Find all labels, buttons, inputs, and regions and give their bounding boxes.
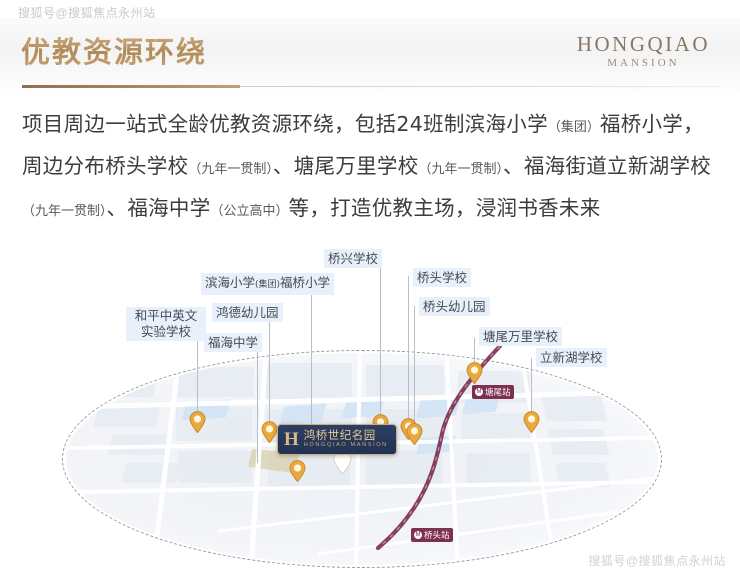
map-label-heping: 和平中英文 实验学校 [126, 307, 206, 341]
project-name-en: HONGQIAO MANSION [304, 441, 388, 450]
leader-line-binhai [311, 286, 312, 426]
desc-seg-5: 、福海中学 [107, 196, 211, 220]
map-label-qiaotou-school: 桥头学校 [413, 268, 471, 287]
leader-line-hongde [269, 313, 270, 423]
location-map: 和平中英文 实验学校 滨海小学(集团)福桥小学 鸿德幼儿园 福海中学 桥兴学校 … [0, 228, 740, 579]
project-nameplate[interactable]: H 鸿桥世纪名园 HONGQIAO MANSION [277, 424, 397, 455]
desc-note-gaozhong: （公立高中） [211, 204, 289, 219]
map-label-tangwei: 塘尾万里学校 [479, 327, 562, 346]
station-qiaotou[interactable]: M 桥头站 [411, 528, 453, 542]
brand-logo: HONGQIAO MANSION [577, 33, 710, 69]
station-tangwei[interactable]: M 塘尾站 [472, 385, 514, 399]
bottom-watermark: 搜狐号@搜狐焦点永州站 [588, 552, 726, 569]
project-monogram: H [284, 430, 299, 449]
map-label-qiaoxing: 桥兴学校 [324, 249, 382, 268]
map-label-qiaotou-kinder: 桥头幼儿园 [419, 297, 490, 316]
leader-line-heping [197, 338, 198, 413]
map-pin-fuhai[interactable] [289, 460, 306, 482]
map-pin-tangwei[interactable] [466, 362, 483, 384]
leader-line-fuhai [257, 343, 258, 463]
brand-logo-main: HONGQIAO [577, 33, 710, 55]
map-pin-heping[interactable] [189, 411, 206, 433]
map-label-binhai: 滨海小学(集团)福桥小学 [201, 273, 334, 295]
page-title: 优教资源环绕 [21, 29, 207, 71]
map-pin-lixinhu[interactable] [523, 411, 540, 433]
divider-thick [22, 85, 240, 88]
map-boundary-ellipse [62, 350, 662, 568]
desc-note-jiunian-2: （九年一贯制） [419, 162, 504, 177]
divider-thin [240, 86, 718, 87]
map-label-hongde: 鸿德幼儿园 [212, 303, 283, 322]
map-label-lixinhu: 立新湖学校 [536, 348, 607, 367]
project-name-cn: 鸿桥世纪名园 [304, 429, 388, 441]
map-pin-qiaotou-kinder[interactable] [406, 423, 423, 445]
metro-icon: M [414, 531, 422, 539]
desc-seg-4: 、福海街道立新湖学校 [503, 154, 711, 178]
brand-logo-sub: MANSION [577, 57, 710, 69]
metro-icon: M [475, 388, 483, 396]
desc-seg-1: 项目周边一站式全龄优教资源环绕，包括24班制滨海小学 [22, 112, 548, 136]
map-pin-hongde[interactable] [261, 421, 278, 443]
desc-note-jiunian-3: （九年一贯制） [22, 204, 107, 219]
leader-line-qiaotou-kinder [414, 306, 415, 426]
desc-note-jiunian-1: （九年一贯制） [188, 162, 273, 177]
station-qiaotou-label: 桥头站 [424, 529, 450, 541]
leader-line-qiaotou-school [408, 276, 409, 421]
desc-seg-6: 等，打造优教主场，浸润书香未来 [289, 196, 601, 220]
top-watermark: 搜狐号@搜狐焦点永州站 [18, 4, 156, 21]
poster-page: 搜狐号@搜狐焦点永州站 优教资源环绕 HONGQIAO MANSION 项目周边… [0, 0, 740, 579]
leader-line-lixinhu [531, 358, 532, 418]
map-label-fuhai: 福海中学 [204, 333, 262, 352]
station-tangwei-label: 塘尾站 [485, 386, 511, 398]
description-paragraph: 项目周边一站式全龄优教资源环绕，包括24班制滨海小学（集团）福桥小学，周边分布桥… [22, 105, 722, 231]
desc-seg-3: 、塘尾万里学校 [273, 154, 419, 178]
leader-line-qiaoxing [380, 258, 381, 416]
desc-note-jituan: （集团） [548, 120, 600, 135]
